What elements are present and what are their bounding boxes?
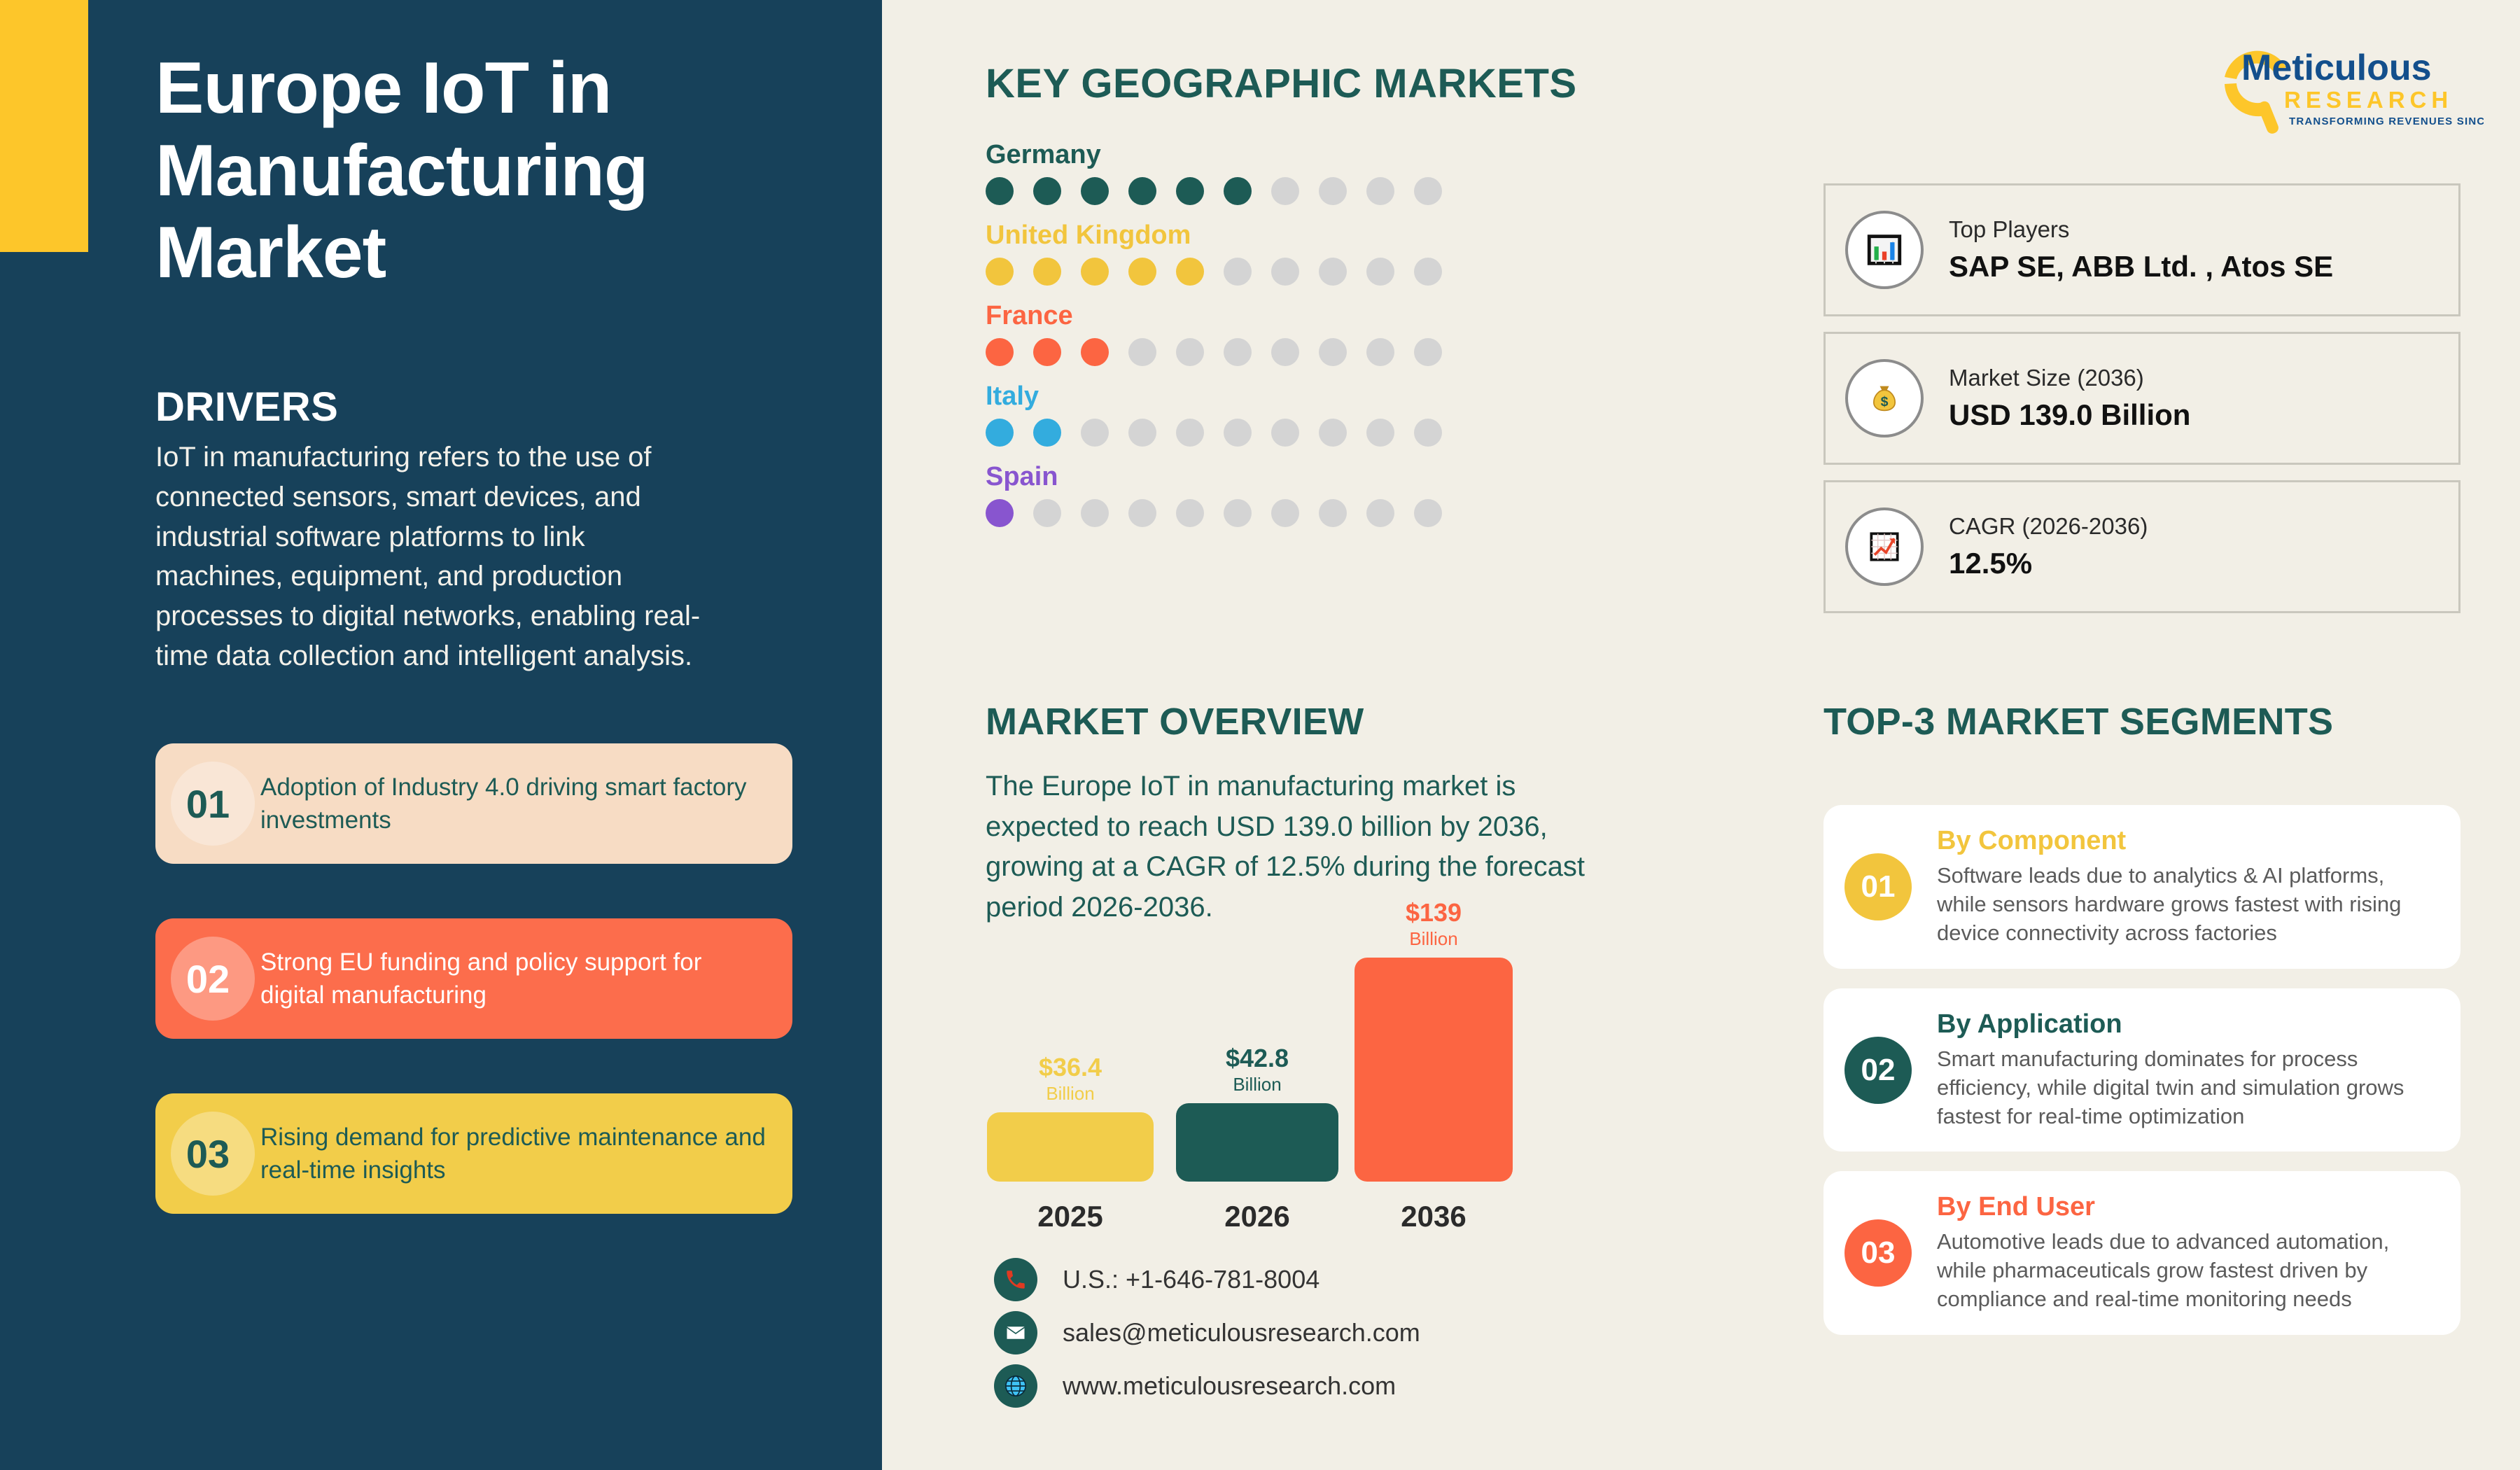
bar-rect-2036 [1354, 958, 1513, 1182]
geo-dot-empty [1319, 499, 1347, 527]
geo-dot-empty [1271, 177, 1299, 205]
email-address: sales@meticulousresearch.com [1063, 1318, 1420, 1347]
info-value-market-size: USD 139.0 Billion [1949, 398, 2190, 432]
bar-column-2036: $139Billion [1354, 958, 1513, 1182]
segment-body: By ApplicationSmart manufacturing domina… [1937, 1009, 2437, 1131]
phone-number: U.S.: +1-646-781-8004 [1063, 1265, 1319, 1294]
geo-dot-empty [1414, 258, 1442, 286]
geo-dot-empty [1414, 499, 1442, 527]
geo-dot-empty [1366, 258, 1394, 286]
geo-dot-empty [1128, 419, 1156, 447]
segment-body: By ComponentSoftware leads due to analyt… [1937, 826, 2437, 948]
geo-dot-scale [986, 177, 1442, 205]
segment-description: Software leads due to analytics & AI pla… [1937, 862, 2437, 948]
bar-column-2025: $36.4Billion [987, 1112, 1154, 1182]
info-label-cagr: CAGR (2026-2036) [1949, 513, 2148, 540]
geo-dot-filled [1176, 177, 1204, 205]
driver-number-2: 02 [155, 956, 260, 1002]
geo-dot-empty [1271, 258, 1299, 286]
geo-dot-filled [1224, 177, 1252, 205]
geo-dot-filled [986, 338, 1014, 366]
geo-dot-scale [986, 258, 1442, 286]
geo-dot-empty [1366, 338, 1394, 366]
geo-country-label: France [986, 301, 1442, 331]
bar-value-label-2025: $36.4Billion [987, 1055, 1154, 1102]
geo-dot-filled [986, 177, 1014, 205]
bar-year-label-2036: 2036 [1354, 1200, 1513, 1233]
geo-dot-scale [986, 338, 1442, 366]
envelope-icon [994, 1311, 1037, 1354]
geo-dot-empty [1414, 177, 1442, 205]
geo-dot-empty [1414, 419, 1442, 447]
segment-number-01: 01 [1844, 853, 1912, 920]
driver-card-2[interactable]: 02 Strong EU funding and policy support … [155, 918, 792, 1039]
bar-value-unit: Billion [987, 1084, 1154, 1102]
svg-text:RESEARCH: RESEARCH [2284, 87, 2453, 113]
segment-title: By Application [1937, 1009, 2437, 1039]
drivers-description: IoT in manufacturing refers to the use o… [155, 437, 708, 676]
geo-dot-empty [1271, 499, 1299, 527]
info-card-top-players[interactable]: Top Players SAP SE, ABB Ltd. , Atos SE [1823, 183, 2460, 316]
globe-icon [994, 1364, 1037, 1408]
geo-dot-empty [1224, 499, 1252, 527]
market-overview-title: MARKET OVERVIEW [986, 700, 1364, 743]
geo-country-label: Italy [986, 381, 1442, 412]
market-overview-text: The Europe IoT in manufacturing market i… [986, 766, 1623, 927]
geo-dot-empty [1319, 177, 1347, 205]
geo-dot-empty [1081, 419, 1109, 447]
contact-phone-row[interactable]: U.S.: +1-646-781-8004 [994, 1253, 1420, 1306]
geo-dot-filled [1033, 338, 1061, 366]
geo-row-spain: Spain [986, 462, 1442, 527]
geo-dot-filled [1128, 177, 1156, 205]
geo-row-italy: Italy [986, 381, 1442, 447]
geo-dot-empty [1176, 338, 1204, 366]
bar-value-label-2036: $139Billion [1354, 900, 1513, 948]
segment-card-03[interactable]: 03By End UserAutomotive leads due to adv… [1823, 1171, 2460, 1335]
bar-value-amount: $139 [1406, 898, 1462, 927]
segment-body: By End UserAutomotive leads due to advan… [1937, 1192, 2437, 1314]
info-label-top-players: Top Players [1949, 216, 2333, 243]
geo-dot-empty [1271, 419, 1299, 447]
website-url: www.meticulousresearch.com [1063, 1371, 1396, 1401]
geo-dot-empty [1128, 499, 1156, 527]
geo-dot-empty [1271, 338, 1299, 366]
bar-value-label-2026: $42.8Billion [1176, 1046, 1338, 1093]
geo-dot-empty [1176, 499, 1204, 527]
geo-dot-empty [1319, 419, 1347, 447]
segments-list: 01By ComponentSoftware leads due to anal… [1823, 805, 2460, 1354]
segment-description: Automotive leads due to advanced automat… [1937, 1228, 2437, 1314]
geo-dot-filled [1128, 258, 1156, 286]
geo-dot-empty [1128, 338, 1156, 366]
geo-dot-empty [1414, 338, 1442, 366]
geo-dot-empty [1319, 338, 1347, 366]
geo-dot-filled [1176, 258, 1204, 286]
driver-card-3[interactable]: 03 Rising demand for predictive maintena… [155, 1093, 792, 1214]
geo-dot-empty [1081, 499, 1109, 527]
bar-value-unit: Billion [1176, 1075, 1338, 1093]
geo-country-label: United Kingdom [986, 220, 1442, 251]
geographic-markets-list: GermanyUnited KingdomFranceItalySpain [986, 140, 1442, 542]
bar-chart-icon [1845, 211, 1924, 289]
driver-text-1: Adoption of Industry 4.0 driving smart f… [260, 771, 792, 837]
segment-number-02: 02 [1844, 1037, 1912, 1104]
info-card-cagr[interactable]: CAGR (2026-2036) 12.5% [1823, 480, 2460, 613]
geo-dot-empty [1224, 419, 1252, 447]
geo-dot-empty [1033, 499, 1061, 527]
bar-value-unit: Billion [1354, 930, 1513, 948]
geo-dot-filled [986, 499, 1014, 527]
driver-text-2: Strong EU funding and policy support for… [260, 946, 792, 1012]
bar-year-label-2025: 2025 [987, 1200, 1154, 1233]
geo-dot-scale [986, 499, 1442, 527]
drivers-heading: DRIVERS [155, 384, 338, 430]
segment-title: By Component [1937, 826, 2437, 856]
geo-dot-scale [986, 419, 1442, 447]
geo-dot-empty [1224, 338, 1252, 366]
bar-value-amount: $36.4 [1039, 1053, 1102, 1081]
money-bag-icon: $ [1845, 359, 1924, 437]
driver-number-3: 03 [155, 1131, 260, 1177]
bar-value-amount: $42.8 [1226, 1044, 1289, 1072]
left-panel: Europe IoT in Manufacturing Market DRIVE… [0, 0, 882, 1470]
contact-email-row[interactable]: sales@meticulousresearch.com [994, 1306, 1420, 1359]
bar-rect-2025 [987, 1112, 1154, 1182]
segments-title: TOP-3 MARKET SEGMENTS [1823, 700, 2333, 743]
segment-card-01[interactable]: 01By ComponentSoftware leads due to anal… [1823, 805, 2460, 969]
geo-dot-filled [1081, 177, 1109, 205]
market-size-bar-chart: $36.4Billion2025$42.8Billion2026$139Bill… [980, 938, 1540, 1246]
contact-website-row[interactable]: www.meticulousresearch.com [994, 1359, 1420, 1413]
svg-text:$: $ [1881, 394, 1889, 409]
geo-dot-empty [1224, 258, 1252, 286]
geo-dot-filled [1033, 177, 1061, 205]
bar-rect-2026 [1176, 1103, 1338, 1182]
geo-dot-empty [1366, 499, 1394, 527]
driver-number-1: 01 [155, 781, 260, 827]
geo-row-germany: Germany [986, 140, 1442, 205]
svg-text:Meticulous: Meticulous [2241, 48, 2432, 88]
phone-icon [994, 1258, 1037, 1301]
geo-dot-filled [1081, 258, 1109, 286]
geographic-markets-title: KEY GEOGRAPHIC MARKETS [986, 60, 1577, 107]
geo-dot-empty [1366, 419, 1394, 447]
geo-row-france: France [986, 301, 1442, 366]
geo-row-united-kingdom: United Kingdom [986, 220, 1442, 286]
geo-dot-filled [1081, 338, 1109, 366]
geo-dot-empty [1176, 419, 1204, 447]
geo-dot-filled [986, 419, 1014, 447]
info-value-cagr: 12.5% [1949, 547, 2148, 580]
geo-country-label: Germany [986, 140, 1442, 170]
segment-number-03: 03 [1844, 1219, 1912, 1287]
svg-text:TRANSFORMING REVENUES SINCE: TRANSFORMING REVENUES SINCE 2010 [2289, 115, 2484, 127]
geo-dot-empty [1366, 177, 1394, 205]
geo-dot-empty [1319, 258, 1347, 286]
info-value-top-players: SAP SE, ABB Ltd. , Atos SE [1949, 250, 2333, 283]
geo-dot-filled [1033, 419, 1061, 447]
key-metrics-cards: Top Players SAP SE, ABB Ltd. , Atos SE $… [1823, 183, 2460, 629]
driver-text-3: Rising demand for predictive maintenance… [260, 1121, 792, 1187]
info-card-market-size[interactable]: $ Market Size (2036) USD 139.0 Billion [1823, 332, 2460, 465]
segment-description: Smart manufacturing dominates for proces… [1937, 1045, 2437, 1131]
info-label-market-size: Market Size (2036) [1949, 365, 2190, 391]
meticulous-research-logo[interactable]: Meticulous RESEARCH TRANSFORMING REVENUE… [2204, 34, 2484, 139]
bar-column-2026: $42.8Billion [1176, 1103, 1338, 1182]
page-title: Europe IoT in Manufacturing Market [155, 48, 799, 295]
bar-year-label-2026: 2026 [1176, 1200, 1338, 1233]
geo-country-label: Spain [986, 462, 1442, 492]
growth-chart-icon [1845, 507, 1924, 586]
yellow-accent-bar [0, 0, 88, 252]
driver-card-1[interactable]: 01 Adoption of Industry 4.0 driving smar… [155, 743, 792, 864]
geo-dot-filled [986, 258, 1014, 286]
contact-block: U.S.: +1-646-781-8004 sales@meticulousre… [994, 1253, 1420, 1413]
segment-title: By End User [1937, 1192, 2437, 1222]
segment-card-02[interactable]: 02By ApplicationSmart manufacturing domi… [1823, 988, 2460, 1152]
infographic-page: Europe IoT in Manufacturing Market DRIVE… [0, 0, 2520, 1470]
geo-dot-filled [1033, 258, 1061, 286]
